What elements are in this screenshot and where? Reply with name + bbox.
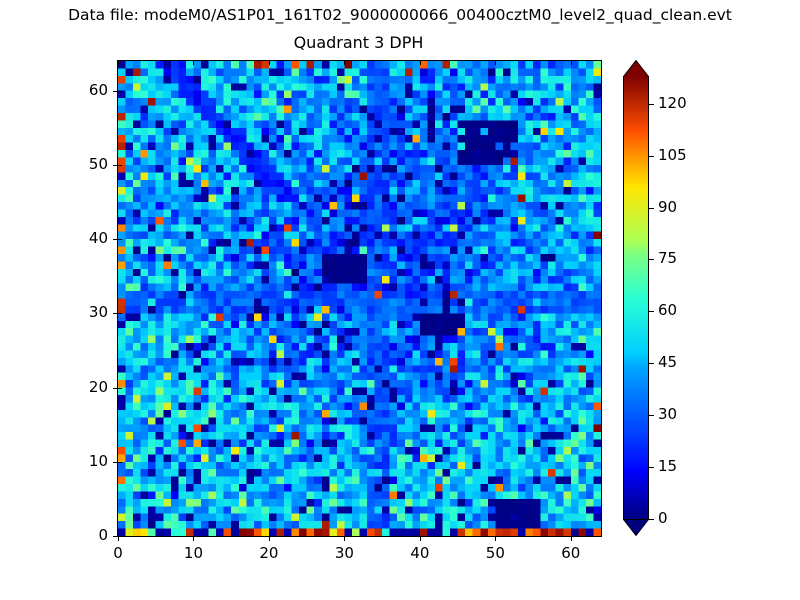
x-tick-mark [495,537,496,541]
y-tick-label: 50 [62,156,108,173]
y-tick-mark [113,313,117,314]
x-tick-mark-inner [571,61,572,65]
y-tick-mark [113,165,117,166]
colorbar-extend-upper-arrow [623,60,649,76]
colorbar-tick-mark [649,208,654,209]
colorbar-extend-lower-arrow [623,519,649,535]
x-tick-label: 20 [239,545,299,562]
x-tick-label: 10 [163,545,223,562]
colorbar-tick-label: 60 [658,302,677,319]
x-tick-mark-inner [495,61,496,65]
colorbar-gradient [624,76,648,519]
x-tick-mark-inner [344,61,345,65]
x-tick-mark-inner [269,61,270,65]
x-tick-label: 60 [541,545,601,562]
colorbar-tick-mark [649,415,654,416]
y-tick-mark [113,536,117,537]
figure-canvas: Data file: modeM0/AS1P01_161T02_90000000… [0,0,800,600]
x-tick-label: 0 [88,545,148,562]
colorbar-gradient-body [623,76,649,519]
y-tick-mark-inner [118,313,122,314]
y-tick-mark-inner [118,536,122,537]
x-tick-mark [269,537,270,541]
colorbar-tick-mark [649,259,654,260]
axes-title: Quadrant 3 DPH [117,33,600,53]
y-tick-mark-inner [118,239,122,240]
y-tick-label: 0 [62,527,108,544]
y-tick-mark [113,388,117,389]
y-tick-label: 20 [62,379,108,396]
y-tick-mark-inner [118,165,122,166]
colorbar-tick-label: 90 [658,199,677,216]
colorbar-tick-label: 15 [658,458,677,475]
colorbar-tick-label: 30 [658,406,677,423]
x-tick-mark [193,537,194,541]
colorbar-tick-label: 120 [658,95,687,112]
heatmap-axes: 0102030405060 0102030405060 [117,60,602,537]
y-tick-mark [113,462,117,463]
colorbar-tick-label: 45 [658,354,677,371]
y-tick-mark-inner [118,388,122,389]
colorbar-tick-mark [649,363,654,364]
y-tick-mark [113,239,117,240]
colorbar-tick-mark [649,156,654,157]
colorbar-tick-label: 0 [658,510,668,527]
colorbar-tick-mark [649,467,654,468]
colorbar-tick-label: 75 [658,250,677,267]
x-tick-mark [571,537,572,541]
y-tick-mark-inner [118,462,122,463]
colorbar-tick-mark [649,519,654,520]
x-tick-mark [420,537,421,541]
y-tick-mark [113,91,117,92]
x-tick-mark-inner [420,61,421,65]
x-tick-label: 30 [314,545,374,562]
x-tick-mark-inner [118,61,119,65]
x-tick-mark-inner [193,61,194,65]
y-tick-label: 40 [62,230,108,247]
colorbar-tick-label: 105 [658,147,687,164]
x-tick-label: 50 [465,545,525,562]
detector-heatmap-image [118,61,601,536]
y-tick-label: 10 [62,453,108,470]
colorbar-tick-mark [649,311,654,312]
x-tick-label: 40 [390,545,450,562]
figure-suptitle: Data file: modeM0/AS1P01_161T02_90000000… [0,5,800,25]
y-tick-mark-inner [118,91,122,92]
colorbar: 0153045607590105120 [623,60,649,535]
colorbar-tick-mark [649,104,654,105]
x-tick-mark [344,537,345,541]
y-tick-label: 60 [62,82,108,99]
x-tick-mark [118,537,119,541]
y-tick-label: 30 [62,304,108,321]
